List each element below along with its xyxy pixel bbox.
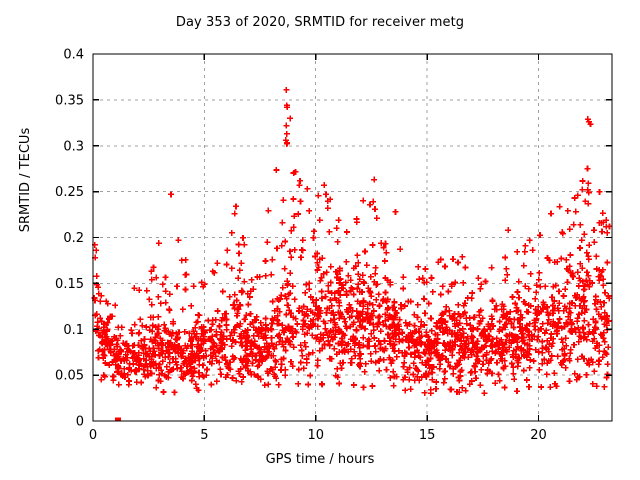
- data-point: [556, 288, 562, 294]
- y-tick-label: 0.25: [55, 185, 84, 200]
- data-point: [515, 289, 521, 295]
- data-point: [216, 323, 222, 329]
- data-point: [601, 384, 607, 390]
- data-point: [514, 388, 520, 394]
- data-point: [262, 258, 268, 264]
- data-point: [462, 265, 468, 271]
- data-point: [398, 302, 404, 308]
- data-point: [585, 180, 591, 186]
- data-point: [97, 298, 103, 304]
- data-point: [191, 283, 197, 289]
- data-point: [302, 290, 308, 296]
- data-point: [215, 308, 221, 314]
- data-point: [579, 237, 585, 243]
- data-point: [503, 266, 509, 272]
- data-point: [171, 389, 177, 395]
- data-point: [294, 321, 300, 327]
- data-point: [514, 249, 520, 255]
- data-point: [174, 283, 180, 289]
- data-point: [351, 382, 357, 388]
- data-point: [236, 250, 242, 256]
- data-point: [524, 377, 530, 383]
- data-point: [448, 386, 454, 392]
- data-point: [240, 289, 246, 295]
- data-point: [128, 327, 134, 333]
- data-point: [269, 321, 275, 327]
- data-point: [282, 266, 288, 272]
- data-point: [311, 235, 317, 241]
- data-point: [353, 327, 359, 333]
- data-point: [264, 239, 270, 245]
- data-point: [300, 237, 306, 243]
- data-point: [527, 365, 533, 371]
- data-point: [189, 378, 195, 384]
- data-point: [522, 249, 528, 255]
- data-point: [229, 265, 235, 271]
- data-point: [193, 381, 199, 387]
- data-point: [344, 229, 350, 235]
- data-point: [336, 303, 342, 309]
- data-point: [446, 308, 452, 314]
- data-point: [182, 272, 188, 278]
- data-point: [596, 189, 602, 195]
- data-point: [571, 222, 577, 228]
- data-point: [232, 292, 238, 298]
- data-point: [559, 336, 565, 342]
- data-point: [263, 316, 269, 322]
- data-point: [334, 225, 340, 231]
- data-point: [586, 256, 592, 262]
- data-point: [149, 302, 155, 308]
- data-point: [602, 290, 608, 296]
- data-point: [536, 277, 542, 283]
- y-tick-label: 0.1: [63, 323, 84, 338]
- data-point: [437, 361, 443, 367]
- data-point: [229, 343, 235, 349]
- data-point: [567, 378, 573, 384]
- data-point: [245, 301, 251, 307]
- data-point: [600, 210, 606, 216]
- data-point: [581, 231, 587, 237]
- data-point: [344, 292, 350, 298]
- data-point: [560, 339, 566, 345]
- data-point: [593, 253, 599, 259]
- data-point: [584, 166, 590, 172]
- data-point: [285, 302, 291, 308]
- data-point: [496, 371, 502, 377]
- data-point: [494, 360, 500, 366]
- data-point: [304, 186, 310, 192]
- data-point: [544, 371, 550, 377]
- data-point: [214, 260, 220, 266]
- data-point: [263, 273, 269, 279]
- data-point: [280, 197, 286, 203]
- data-point: [376, 368, 382, 374]
- data-point: [415, 302, 421, 308]
- data-point: [572, 371, 578, 377]
- data-point: [450, 256, 456, 262]
- data-point: [326, 229, 332, 235]
- data-point: [577, 245, 583, 251]
- data-point: [575, 269, 581, 275]
- data-point: [372, 206, 378, 212]
- data-point: [605, 361, 611, 367]
- data-point: [235, 275, 241, 281]
- data-point: [300, 247, 306, 253]
- data-point: [581, 287, 587, 293]
- data-point: [547, 384, 553, 390]
- data-point: [126, 378, 132, 384]
- data-point: [227, 294, 233, 300]
- data-point: [372, 271, 378, 277]
- data-point: [127, 361, 133, 367]
- data-point: [134, 379, 140, 385]
- data-point: [360, 335, 366, 341]
- data-point: [555, 353, 561, 359]
- data-point: [161, 389, 167, 395]
- data-point: [362, 369, 368, 375]
- data-point: [136, 331, 142, 337]
- data-point: [156, 240, 162, 246]
- data-point: [526, 384, 532, 390]
- data-point: [574, 318, 580, 324]
- data-point: [321, 182, 327, 188]
- data-point: [428, 387, 434, 393]
- data-point: [505, 227, 511, 233]
- data-point: [146, 296, 152, 302]
- data-point: [144, 288, 150, 294]
- data-point: [373, 297, 379, 303]
- data-point: [224, 262, 230, 268]
- data-point: [299, 347, 305, 353]
- data-point: [325, 205, 331, 211]
- data-point: [596, 357, 602, 363]
- data-point: [509, 294, 515, 300]
- data-point: [328, 264, 334, 270]
- data-point: [269, 335, 275, 341]
- data-point: [450, 371, 456, 377]
- data-point: [503, 332, 509, 338]
- data-point: [567, 350, 573, 356]
- data-point: [349, 356, 355, 362]
- data-point: [531, 358, 537, 364]
- data-point: [399, 337, 405, 343]
- data-point: [282, 238, 288, 244]
- data-point: [428, 316, 434, 322]
- data-point: [383, 367, 389, 373]
- data-point: [577, 222, 583, 228]
- data-point: [139, 323, 145, 329]
- data-point: [288, 254, 294, 260]
- data-point: [418, 319, 424, 325]
- data-point: [200, 362, 206, 368]
- data-point: [442, 264, 448, 270]
- x-tick-label: 0: [89, 428, 97, 443]
- data-point: [604, 260, 610, 266]
- data-point: [581, 318, 587, 324]
- data-point: [249, 277, 255, 283]
- data-point: [282, 372, 288, 378]
- data-point: [478, 367, 484, 373]
- data-point: [354, 219, 360, 225]
- data-point: [469, 295, 475, 301]
- data-point: [510, 371, 516, 377]
- y-tick-label: 0.15: [55, 277, 84, 292]
- data-point: [188, 303, 194, 309]
- data-point: [455, 259, 461, 265]
- data-point: [548, 211, 554, 217]
- data-point: [605, 344, 611, 350]
- data-point: [394, 354, 400, 360]
- data-point: [217, 366, 223, 372]
- data-point: [370, 199, 376, 205]
- data-point: [343, 259, 349, 265]
- data-point: [298, 254, 304, 260]
- data-point: [561, 293, 567, 299]
- x-tick-label: 20: [530, 428, 547, 443]
- data-point: [391, 299, 397, 305]
- y-tick-label: 0.35: [55, 93, 84, 108]
- data-point: [363, 361, 369, 367]
- data-point: [402, 387, 408, 393]
- data-point: [283, 123, 289, 129]
- data-point: [94, 273, 100, 279]
- data-point: [370, 242, 376, 248]
- data-point: [536, 367, 542, 373]
- data-point: [335, 239, 341, 245]
- data-point: [374, 215, 380, 221]
- data-point: [303, 344, 309, 350]
- data-point: [100, 352, 106, 358]
- data-point: [567, 252, 573, 258]
- data-point: [591, 239, 597, 245]
- data-point: [306, 286, 312, 292]
- data-point: [262, 382, 268, 388]
- x-tick-label: 15: [419, 428, 436, 443]
- data-point: [459, 254, 465, 260]
- data-point: [536, 270, 542, 276]
- data-point: [375, 320, 381, 326]
- data-point: [162, 274, 168, 280]
- data-point: [268, 272, 274, 278]
- x-tick-label: 10: [307, 428, 324, 443]
- data-point: [571, 342, 577, 348]
- data-point: [429, 275, 435, 281]
- data-point: [586, 322, 592, 328]
- data-point: [563, 335, 569, 341]
- data-point: [334, 366, 340, 372]
- data-point: [315, 193, 321, 199]
- data-point: [317, 217, 323, 223]
- data-point: [400, 285, 406, 291]
- data-point: [441, 369, 447, 375]
- data-point: [298, 359, 304, 365]
- data-point: [542, 283, 548, 289]
- data-point: [297, 178, 303, 184]
- data-point: [96, 355, 102, 361]
- data-point: [132, 322, 138, 328]
- data-point: [565, 279, 571, 285]
- y-tick-label: 0: [76, 415, 84, 430]
- data-point: [236, 241, 242, 247]
- data-point: [319, 289, 325, 295]
- data-point: [522, 243, 528, 249]
- data-point: [369, 383, 375, 389]
- data-point: [489, 265, 495, 271]
- data-point: [489, 297, 495, 303]
- data-point: [441, 380, 447, 386]
- data-point: [562, 286, 568, 292]
- data-point: [400, 274, 406, 280]
- data-point: [373, 349, 379, 355]
- data-point: [599, 229, 605, 235]
- data-point: [240, 235, 246, 241]
- data-point: [527, 237, 533, 243]
- data-point: [160, 281, 166, 287]
- data-point: [93, 247, 99, 253]
- data-point: [355, 281, 361, 287]
- data-point: [317, 278, 323, 284]
- data-point: [469, 290, 475, 296]
- data-point: [502, 255, 508, 261]
- data-point: [565, 208, 571, 214]
- data-point: [166, 307, 172, 313]
- y-tick-label: 0.4: [63, 48, 84, 63]
- data-point: [371, 177, 377, 183]
- data-point: [362, 248, 368, 254]
- data-point: [168, 191, 174, 197]
- data-point: [116, 382, 122, 388]
- data-point: [567, 226, 573, 232]
- data-point: [477, 286, 483, 292]
- x-tick-label: 5: [200, 428, 208, 443]
- data-point: [576, 283, 582, 289]
- data-point: [306, 208, 312, 214]
- data-point: [161, 322, 167, 328]
- data-point: [290, 196, 296, 202]
- y-tick-label: 0.05: [55, 369, 84, 384]
- data-point: [208, 382, 214, 388]
- data-point: [292, 296, 298, 302]
- data-point: [287, 115, 293, 121]
- data-point: [573, 209, 579, 215]
- data-point: [382, 258, 388, 264]
- data-point: [220, 288, 226, 294]
- data-point: [336, 381, 342, 387]
- data-point: [502, 385, 508, 391]
- data-point: [238, 260, 244, 266]
- data-point: [376, 291, 382, 297]
- data-point: [305, 381, 311, 387]
- data-point: [397, 246, 403, 252]
- data-point: [354, 252, 360, 258]
- data-point: [299, 353, 305, 359]
- data-point: [371, 335, 377, 341]
- data-point: [382, 338, 388, 344]
- data-point: [538, 384, 544, 390]
- scatter-points: [91, 87, 612, 422]
- data-point: [502, 277, 508, 283]
- data-point: [282, 367, 288, 373]
- grid-lines: [93, 54, 612, 421]
- data-point: [467, 315, 473, 321]
- data-point: [591, 227, 597, 233]
- data-point: [408, 386, 414, 392]
- data-point: [167, 291, 173, 297]
- data-point: [241, 242, 247, 248]
- data-point: [445, 288, 451, 294]
- data-point: [175, 237, 181, 243]
- data-point: [593, 294, 599, 300]
- data-point: [416, 276, 422, 282]
- data-point: [224, 247, 230, 253]
- data-point: [360, 384, 366, 390]
- data-point: [276, 382, 282, 388]
- data-point: [516, 295, 522, 301]
- data-point: [390, 369, 396, 375]
- data-point: [279, 220, 285, 226]
- data-point: [563, 365, 569, 371]
- data-point: [521, 263, 527, 269]
- data-point: [298, 198, 304, 204]
- data-point: [528, 271, 534, 277]
- data-point: [323, 191, 329, 197]
- data-point: [438, 292, 444, 298]
- data-point: [477, 382, 483, 388]
- data-point: [339, 365, 345, 371]
- data-point: [214, 378, 220, 384]
- data-point: [111, 374, 117, 380]
- data-point: [368, 274, 374, 280]
- data-point: [351, 292, 357, 298]
- data-point: [460, 280, 466, 286]
- data-point: [557, 204, 563, 210]
- data-point: [530, 247, 536, 253]
- data-point: [539, 350, 545, 356]
- data-point: [392, 209, 398, 215]
- data-point: [511, 376, 517, 382]
- data-point: [605, 371, 611, 377]
- data-point: [497, 318, 503, 324]
- data-point: [336, 217, 342, 223]
- data-point: [167, 360, 173, 366]
- data-point: [373, 265, 379, 271]
- data-point: [532, 296, 538, 302]
- data-point: [360, 198, 366, 204]
- data-point: [233, 203, 239, 209]
- data-point: [440, 283, 446, 289]
- y-tick-label: 0.3: [63, 139, 84, 154]
- chart-container: Day 353 of 2020, SRMTID for receiver met…: [0, 0, 640, 480]
- data-point: [269, 257, 275, 263]
- data-point: [586, 242, 592, 248]
- plot-canvas: 00.050.10.150.20.250.30.350.405101520: [0, 0, 640, 480]
- data-point: [205, 318, 211, 324]
- data-point: [163, 288, 169, 294]
- data-point: [307, 372, 313, 378]
- data-point: [504, 272, 510, 278]
- data-point: [602, 339, 608, 345]
- data-point: [137, 316, 143, 322]
- data-point: [415, 264, 421, 270]
- data-point: [596, 348, 602, 354]
- data-point: [382, 289, 388, 295]
- data-point: [182, 286, 188, 292]
- data-point: [301, 365, 307, 371]
- data-point: [112, 302, 118, 308]
- data-point: [401, 364, 407, 370]
- data-point: [367, 202, 373, 208]
